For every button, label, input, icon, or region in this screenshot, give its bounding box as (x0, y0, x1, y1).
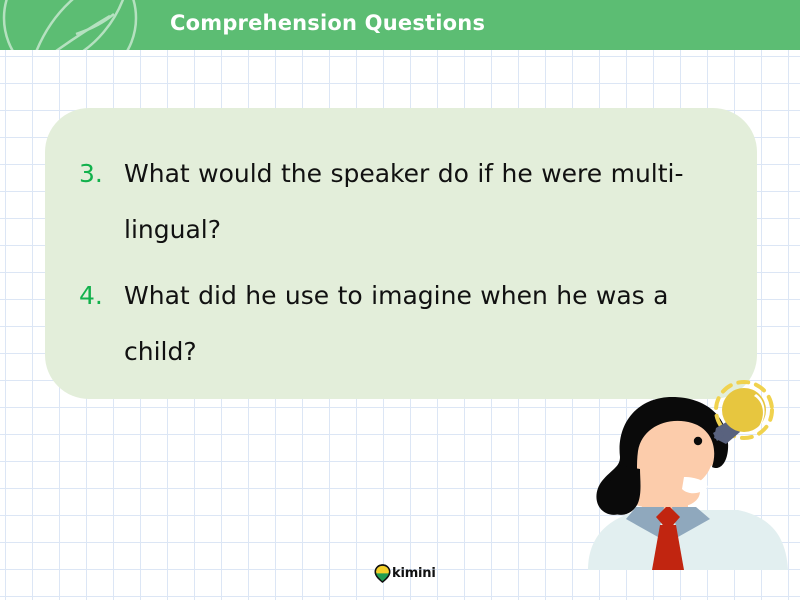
page-title: Comprehension Questions (170, 11, 485, 35)
slide-canvas: Comprehension Questions 3. What would th… (0, 0, 800, 600)
question-number: 4. (78, 268, 124, 324)
question-text: What would the speaker do if he were mul… (124, 146, 704, 258)
lightbulb-idea-icon (700, 376, 782, 458)
question-item: 4. What did he use to imagine when he wa… (78, 268, 717, 380)
header-banner: Comprehension Questions (0, 0, 800, 50)
leaf-logo-watermark-icon (0, 0, 150, 50)
question-text: What did he use to imagine when he was a… (124, 268, 704, 380)
question-card: 3. What would the speaker do if he were … (45, 108, 757, 399)
kimini-logo-text: kimini (392, 566, 436, 581)
question-item: 3. What would the speaker do if he were … (78, 146, 717, 258)
kimini-balloon-logo-icon (374, 564, 391, 583)
kimini-logo: kimini (374, 563, 436, 583)
question-number: 3. (78, 146, 124, 202)
